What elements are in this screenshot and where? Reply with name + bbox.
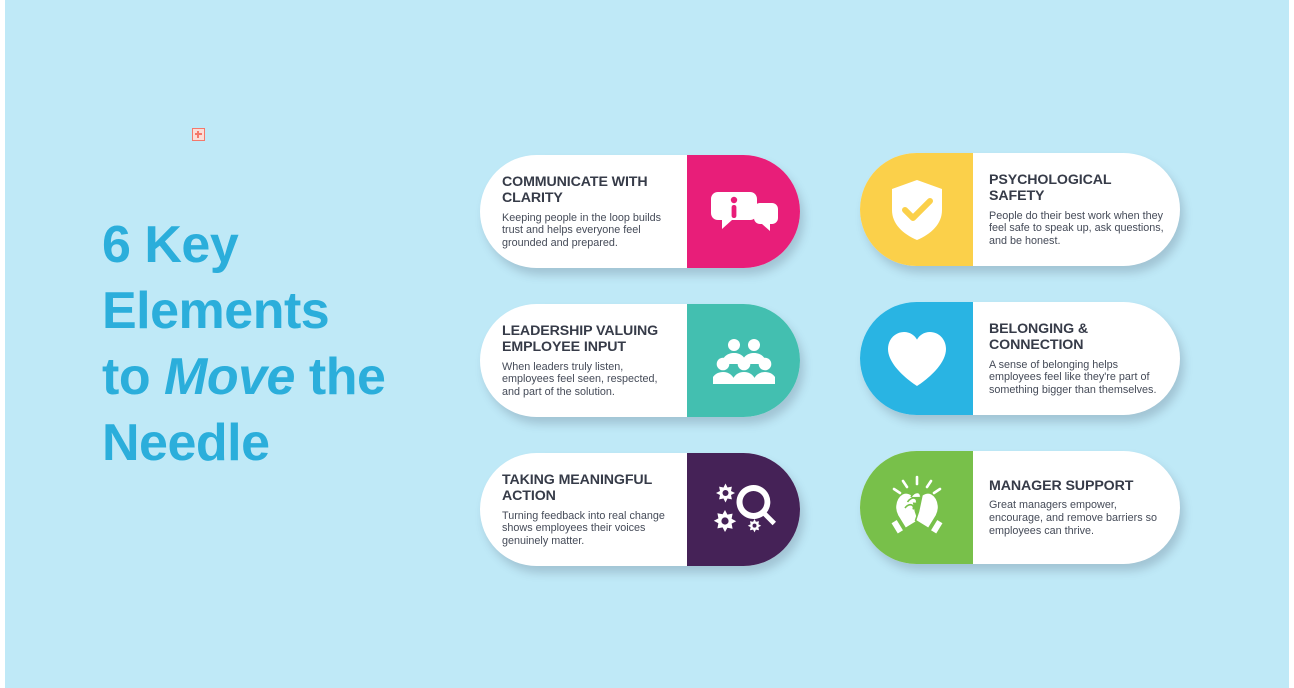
title-line-4: Needle: [102, 414, 270, 472]
people-group-icon: [713, 338, 775, 384]
title-line-2: Elements: [102, 282, 329, 340]
title-line-1: 6 Key: [102, 216, 238, 274]
page-title: 6 Key Elements to Move the Needle: [102, 212, 462, 476]
icon-panel: [687, 304, 800, 417]
card-title: BELONGING & CONNECTION: [989, 321, 1166, 354]
speech-bubbles-info-icon: [710, 189, 778, 235]
card-description: Great managers empower, encourage, and r…: [989, 499, 1166, 537]
card-body: PSYCHOLOGICAL SAFETY People do their bes…: [973, 153, 1180, 266]
heart-icon: [886, 331, 948, 387]
card-description: When leaders truly listen, employees fee…: [502, 361, 675, 399]
gears-magnifier-icon: [712, 481, 776, 539]
card-body: COMMUNICATE WITH CLARITY Keeping people …: [480, 155, 687, 268]
title-line-3-emphasis: Move: [164, 348, 295, 406]
card-title: LEADERSHIP VALUING EMPLOYEE INPUT: [502, 323, 675, 356]
card-belonging-and-connection[interactable]: BELONGING & CONNECTION A sense of belong…: [860, 302, 1180, 415]
card-description: Keeping people in the loop builds trust …: [502, 212, 675, 250]
infographic-canvas: 6 Key Elements to Move the Needle COMMUN…: [5, 0, 1289, 688]
card-body: TAKING MEANINGFUL ACTION Turning feedbac…: [480, 453, 687, 566]
card-body: LEADERSHIP VALUING EMPLOYEE INPUT When l…: [480, 304, 687, 417]
shield-check-icon: [890, 179, 944, 241]
card-body: MANAGER SUPPORT Great managers empower, …: [973, 451, 1180, 564]
icon-panel: [860, 302, 973, 415]
card-title: COMMUNICATE WITH CLARITY: [502, 174, 675, 207]
card-description: A sense of belonging helps employees fee…: [989, 359, 1166, 397]
card-title: MANAGER SUPPORT: [989, 478, 1166, 495]
icon-panel: [860, 451, 973, 564]
card-title: PSYCHOLOGICAL SAFETY: [989, 172, 1166, 205]
title-line-3-post: the: [295, 348, 385, 406]
card-leadership-valuing-employee-input[interactable]: LEADERSHIP VALUING EMPLOYEE INPUT When l…: [480, 304, 800, 417]
title-line-3-pre: to: [102, 348, 164, 406]
card-psychological-safety[interactable]: PSYCHOLOGICAL SAFETY People do their bes…: [860, 153, 1180, 266]
add-element-marker[interactable]: [192, 128, 205, 141]
card-title: TAKING MEANINGFUL ACTION: [502, 472, 675, 505]
card-body: BELONGING & CONNECTION A sense of belong…: [973, 302, 1180, 415]
icon-panel: [687, 155, 800, 268]
icon-panel: [860, 153, 973, 266]
icon-panel: [687, 453, 800, 566]
card-communicate-with-clarity[interactable]: COMMUNICATE WITH CLARITY Keeping people …: [480, 155, 800, 268]
card-taking-meaningful-action[interactable]: TAKING MEANINGFUL ACTION Turning feedbac…: [480, 453, 800, 566]
clasped-hands-icon: [886, 475, 948, 541]
card-description: People do their best work when they feel…: [989, 210, 1166, 248]
card-manager-support[interactable]: MANAGER SUPPORT Great managers empower, …: [860, 451, 1180, 564]
card-description: Turning feedback into real change shows …: [502, 510, 675, 548]
